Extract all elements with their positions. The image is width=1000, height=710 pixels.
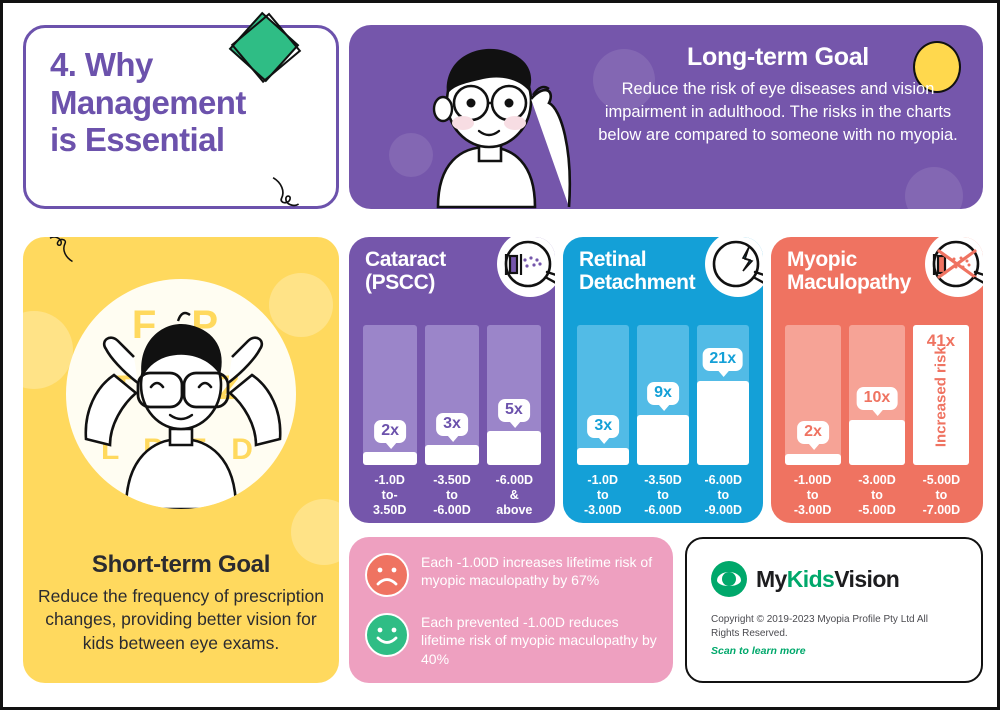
logo-word-vision: Vision <box>834 566 899 592</box>
bar-group-myopic-maculopathy: 2x 10x 41x Increased risk <box>785 325 969 465</box>
chart-title-line: Maculopathy <box>787 272 937 295</box>
bar-value-label: 3x <box>587 415 619 438</box>
logo-wordmark: MyKidsVision <box>756 566 899 593</box>
bar-group-retinal-detachment: 3x 9x 21x <box>577 325 749 465</box>
long-term-goal-body: Reduce the risk of eye diseases and visi… <box>589 78 967 146</box>
chart-card-cataract: Cataract (PSCC) 2x <box>349 237 555 523</box>
x-axis-label: -3.50D to -6.00D <box>635 473 690 518</box>
x-axis-labels-myopic-maculopathy: -1.00D to -3.00D -3.00D to -5.00D -5.00D… <box>783 473 971 518</box>
bar-axis-caption: Increased risk <box>932 346 949 447</box>
risk-facts-card: Each -1.00D increases lifetime risk of m… <box>349 537 673 683</box>
short-term-goal-title: Short-term Goal <box>23 551 339 579</box>
risk-fact-text: Each prevented -1.00D reduces lifetime r… <box>421 613 657 668</box>
bar-fill <box>637 415 689 465</box>
sad-face-icon <box>365 553 409 597</box>
x-axis-labels-retinal-detachment: -1.0D to -3.00D -3.50D to -6.00D -6.00D … <box>575 473 751 518</box>
chart-title-line: (PSCC) <box>365 272 495 295</box>
logo-word-kids: Kids <box>787 566 834 592</box>
bar-value-label: 3x <box>436 413 468 436</box>
bar-cataract-1: 2x <box>363 325 417 465</box>
long-term-goal-title: Long-term Goal <box>589 43 967 72</box>
x-axis-label: -6.00D to -9.00D <box>696 473 751 518</box>
bar-fill <box>697 381 749 465</box>
bar-value-label: 9x <box>647 382 679 405</box>
x-axis-label: -3.50D to -6.00D <box>423 473 480 518</box>
bar-maculopathy-1: 2x <box>785 325 841 465</box>
bar-fill <box>487 431 541 465</box>
chart-card-myopic-maculopathy: Myopic Maculopathy 2x <box>771 237 983 523</box>
squiggle-decoration-icon <box>47 237 77 263</box>
happy-face-icon <box>365 613 409 657</box>
eye-cataract-icon <box>497 237 555 297</box>
x-axis-label: -1.0D to -3.00D <box>575 473 630 518</box>
chart-title-line: Myopic <box>787 249 937 272</box>
bar-retinal-2: 9x <box>637 325 689 465</box>
bar-value-label: 2x <box>374 420 406 443</box>
bar-value-label: 5x <box>498 399 530 422</box>
boy-with-glasses-illustration <box>383 39 603 209</box>
bar-fill <box>577 448 629 465</box>
bar-maculopathy-2: 10x <box>849 325 905 465</box>
kid-figure <box>66 279 296 509</box>
logo-word-my: My <box>756 566 787 592</box>
bar-fill <box>785 454 841 465</box>
bar-fill <box>363 452 417 465</box>
bar-value-label: 10x <box>857 387 898 410</box>
branding-card: MyKidsVision Copyright © 2019-2023 Myopi… <box>685 537 983 683</box>
bar-fill <box>849 420 905 465</box>
x-axis-label: -5.00D to -7.00D <box>912 473 971 518</box>
decorative-blob <box>905 167 963 209</box>
bar-retinal-1: 3x <box>577 325 629 465</box>
infographic-page: 4. Why Management is Essential <box>0 0 1000 710</box>
mykidsvision-logo: MyKidsVision <box>711 561 899 597</box>
risk-fact-text: Each -1.00D increases lifetime risk of m… <box>421 553 657 590</box>
long-term-goal-card: Long-term Goal Reduce the risk of eye di… <box>349 25 983 209</box>
bar-group-cataract: 2x 3x 5x <box>363 325 541 465</box>
kid-with-glasses-illustration: F P T O Z L P E D <box>66 279 296 509</box>
eye-maculopathy-crossed-icon <box>925 237 983 297</box>
x-axis-label: -1.0D to- 3.50D <box>361 473 418 518</box>
chart-title-line: Retinal <box>579 249 709 272</box>
chart-title-retinal-detachment: Retinal Detachment <box>579 249 709 294</box>
x-axis-label: -6.00D & above <box>486 473 543 518</box>
title-card: 4. Why Management is Essential <box>23 25 339 209</box>
chart-title-line: Detachment <box>579 272 709 295</box>
eye-retinal-detachment-icon <box>705 237 763 297</box>
bar-value-label: 2x <box>797 421 829 444</box>
chart-title-cataract: Cataract (PSCC) <box>365 249 495 294</box>
bar-maculopathy-3: 41x Increased risk <box>913 325 969 465</box>
risk-fact-item: Each -1.00D increases lifetime risk of m… <box>365 553 657 597</box>
copyright-text: Copyright © 2019-2023 Myopia Profile Pty… <box>711 613 951 641</box>
x-axis-label: -3.00D to -5.00D <box>847 473 906 518</box>
x-axis-labels-cataract: -1.0D to- 3.50D -3.50D to -6.00D -6.00D … <box>361 473 543 518</box>
short-term-goal-card: F P T O Z L P E D <box>23 237 339 683</box>
chart-title-line: Cataract <box>365 249 495 272</box>
chart-title-myopic-maculopathy: Myopic Maculopathy <box>787 249 937 294</box>
long-term-goal-text: Long-term Goal Reduce the risk of eye di… <box>589 43 967 146</box>
short-term-goal-body: Reduce the frequency of prescription cha… <box>37 585 325 655</box>
x-axis-label: -1.00D to -3.00D <box>783 473 842 518</box>
scan-to-learn-more-link[interactable]: Scan to learn more <box>711 645 806 657</box>
squiggle-decoration-icon <box>268 176 302 210</box>
chart-card-retinal-detachment: Retinal Detachment 3x 9x 21x <box>563 237 763 523</box>
eye-logo-icon <box>711 561 747 597</box>
bar-fill <box>425 445 479 465</box>
page-title-line-2: Management <box>50 84 318 122</box>
bar-value-label: 21x <box>702 348 743 371</box>
bar-cataract-3: 5x <box>487 325 541 465</box>
page-title-line-3: is Essential <box>50 121 318 159</box>
bar-retinal-3: 21x <box>697 325 749 465</box>
risk-fact-item: Each prevented -1.00D reduces lifetime r… <box>365 613 657 668</box>
bar-cataract-2: 3x <box>425 325 479 465</box>
